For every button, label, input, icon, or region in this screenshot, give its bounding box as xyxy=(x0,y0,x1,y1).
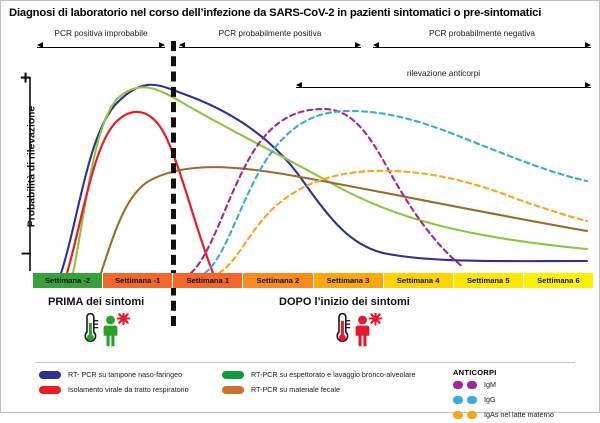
legend-swatch-purple-dashed xyxy=(453,381,477,389)
red-person-fever-icon xyxy=(331,313,389,347)
arrow-head-right xyxy=(585,42,591,48)
legend-item-viral-isolation: Isolamento virale da tratto respiratorio xyxy=(39,383,224,397)
legend-item-igg: IgG xyxy=(453,393,593,407)
phase-label: PCR probabilmente negativa xyxy=(373,28,591,38)
legend-column-1: RT- PCR su tampone naso-faringeo Isolame… xyxy=(39,368,224,398)
legend-label: IgAs nel latte materno xyxy=(484,411,554,418)
y-axis-minus: – xyxy=(21,244,32,263)
legend-label: RT-PCR su materiale fecale xyxy=(251,386,340,393)
curve-viral-isolation xyxy=(67,112,213,273)
y-axis-plus: + xyxy=(20,69,31,88)
week-cell-minus1[interactable]: Settimana -1 xyxy=(103,273,173,288)
legend-item-igm: IgM xyxy=(453,378,593,392)
week-cell-5[interactable]: Settimana 5 xyxy=(454,273,524,288)
phase-label: PCR probabilmente positiva xyxy=(179,28,361,38)
phase-arrow-unlikely-pcr: PCR positiva improbabile xyxy=(37,39,165,59)
legend-label: RT- PCR su tampone naso-faringeo xyxy=(68,371,182,378)
arrow-head-left xyxy=(373,42,379,48)
arrow-head-left xyxy=(179,42,185,48)
curves-svg xyxy=(31,77,593,273)
curve-igm xyxy=(191,109,463,273)
legend-swatch-red xyxy=(39,386,61,394)
arrow-head-left xyxy=(37,42,43,48)
before-symptoms-label: PRIMA dei sintomi xyxy=(48,296,144,308)
arrow-head-right xyxy=(159,42,165,48)
legend-label: IgM xyxy=(484,381,496,388)
arrow-line xyxy=(179,47,361,48)
thermometer-icon xyxy=(85,314,98,342)
page-title: Diagnosi di laboratorio nel corso dell’i… xyxy=(9,7,595,19)
week-cell-2[interactable]: Settimana 2 xyxy=(243,273,313,288)
phase-arrow-likely-positive-pcr: PCR probabilmente positiva xyxy=(179,39,361,59)
phase-label: PCR positiva improbabile xyxy=(37,28,165,38)
legend-swatch-orange-dashed xyxy=(453,411,477,419)
virus-burst-icon xyxy=(118,313,130,324)
phase-arrow-likely-negative-pcr: PCR probabilmente negativa xyxy=(373,39,591,59)
week-cell-1[interactable]: Settimana 1 xyxy=(173,273,243,288)
legend-antibodies-title: ANTICORPI xyxy=(453,368,593,377)
legend-item-igas: IgAs nel latte materno xyxy=(453,408,593,422)
curve-igg xyxy=(205,111,587,273)
week-cell-3[interactable]: Settimana 3 xyxy=(314,273,384,288)
legend-label: IgG xyxy=(484,396,496,403)
week-cell-minus2[interactable]: Settimana -2 xyxy=(33,273,103,288)
legend-label: Isolamento virale da tratto respiratorio xyxy=(68,386,189,393)
arrow-head-right xyxy=(355,42,361,48)
before-symptoms-icon-group xyxy=(79,313,137,352)
legend-swatch-green xyxy=(222,371,244,379)
legend-item-nasopharyngeal: RT- PCR su tampone naso-faringeo xyxy=(39,368,224,382)
legend-label: RT-PCR su espettorato e lavaggio bronco-… xyxy=(251,371,415,378)
legend-divider xyxy=(35,362,575,363)
legend-swatch-lightblue-dashed xyxy=(453,396,477,404)
arrow-line xyxy=(37,47,165,48)
arrow-line xyxy=(373,47,591,48)
after-symptoms-label: DOPO l’inizio dei sintomi xyxy=(279,296,410,308)
week-cell-4[interactable]: Settimana 4 xyxy=(384,273,454,288)
legend: RT- PCR su tampone naso-faringeo Isolame… xyxy=(35,368,587,410)
legend-swatch-brown xyxy=(222,386,244,394)
green-person-fever-icon xyxy=(79,313,137,347)
virus-burst-icon xyxy=(370,313,382,324)
week-cell-6[interactable]: Settimana 6 xyxy=(524,273,593,288)
curves-plot xyxy=(31,77,593,271)
legend-swatch-blue xyxy=(39,371,61,379)
thermometer-icon xyxy=(337,314,350,342)
legend-item-sputum-bal: RT-PCR su espettorato e lavaggio bronco-… xyxy=(222,368,447,382)
after-symptoms-icon-group xyxy=(331,313,389,352)
figure-root: Diagnosi di laboratorio nel corso dell’i… xyxy=(0,0,600,413)
legend-column-2: RT-PCR su espettorato e lavaggio bronco-… xyxy=(222,368,447,398)
legend-item-fecal: RT-PCR su materiale fecale xyxy=(222,383,447,397)
person-icon xyxy=(356,316,370,347)
week-axis: Settimana -2 Settimana -1 Settimana 1 Se… xyxy=(33,273,593,288)
legend-column-3-antibodies: ANTICORPI IgM IgG IgAs nel latte materno xyxy=(453,368,593,423)
person-icon xyxy=(104,316,118,347)
